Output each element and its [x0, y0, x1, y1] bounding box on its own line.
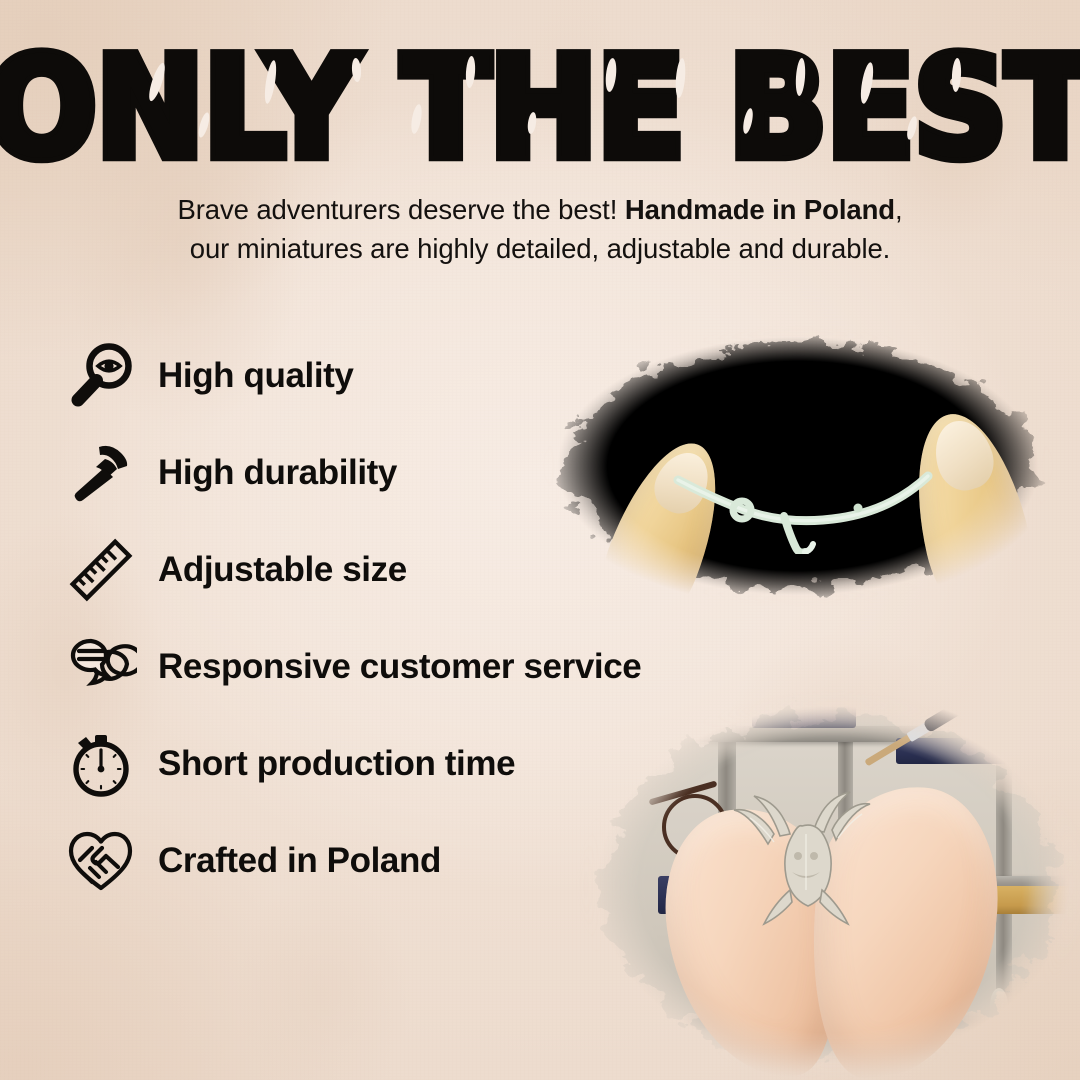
- ruler-icon: [62, 531, 140, 609]
- hammer-icon: [62, 434, 140, 512]
- tray-top-left: [752, 706, 856, 728]
- feature-label: Crafted in Poland: [158, 841, 441, 881]
- subtitle-emphasis: Handmade in Poland: [625, 194, 895, 225]
- subtitle-tail: ,: [895, 194, 903, 225]
- photo-torn-frame: [566, 690, 1080, 1080]
- feature-label: Short production time: [158, 744, 515, 784]
- subtitle-lead: Brave adventurers deserve the best!: [177, 194, 624, 225]
- standing-miniature: [990, 988, 1008, 1024]
- workshop-painting-photo: [566, 690, 1080, 1080]
- photo-torn-frame: [524, 312, 1072, 620]
- stopwatch-icon: [62, 725, 140, 803]
- feature-label: High quality: [158, 356, 353, 396]
- magnifier-eye-icon: [62, 337, 140, 415]
- fingers-holding-miniature-photo: [524, 312, 1072, 620]
- subtitle: Brave adventurers deserve the best! Hand…: [60, 190, 1020, 268]
- heart-handshake-icon: [62, 822, 140, 900]
- feature-label: High durability: [158, 453, 397, 493]
- resin-miniature-part: [672, 462, 934, 554]
- feature-label: Responsive customer service: [158, 647, 641, 687]
- page-title: ONLY THE BEST: [0, 38, 1080, 177]
- dragon-miniature: [716, 786, 896, 938]
- tray-top-right: [896, 738, 1068, 764]
- subtitle-line2: our miniatures are highly detailed, adju…: [190, 233, 890, 264]
- poster-canvas: ONLY THE BEST Brave adventurers deserve …: [0, 0, 1080, 1080]
- feature-label: Adjustable size: [158, 550, 407, 590]
- speech-bubbles-icon: [62, 628, 140, 706]
